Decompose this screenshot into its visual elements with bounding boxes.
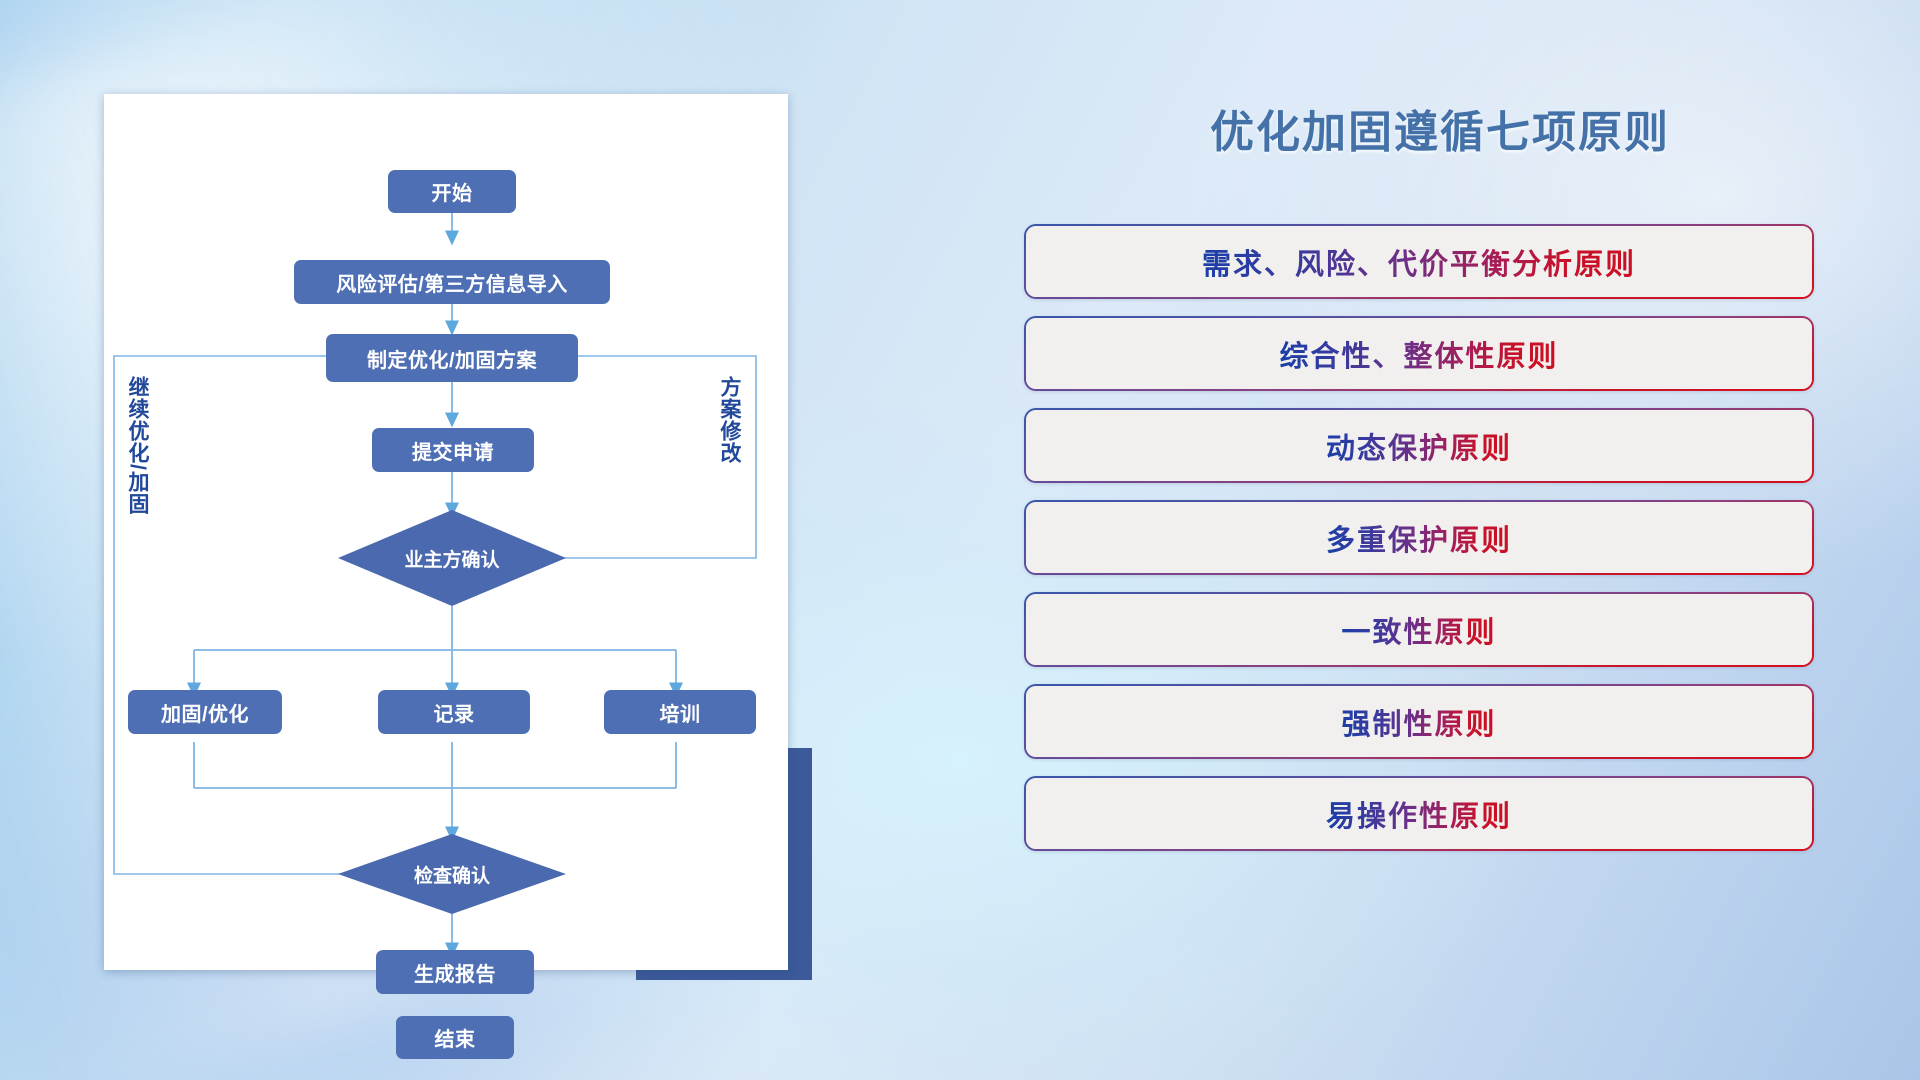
flow-node-plan[interactable]: 制定优化/加固方案: [326, 334, 578, 382]
edge-label-plan-revision: 方案修改: [718, 376, 740, 464]
principle-inner: 一致性原则: [1026, 594, 1812, 665]
principle-label: 强制性原则: [1341, 701, 1496, 743]
principle-item-3[interactable]: 动态保护原则: [1024, 408, 1814, 483]
flow-node-label: 生成报告: [414, 958, 496, 987]
flow-node-reinforce[interactable]: 加固/优化: [128, 690, 282, 734]
principle-label: 动态保护原则: [1326, 425, 1512, 467]
principle-inner: 多重保护原则: [1026, 502, 1812, 573]
flow-node-training[interactable]: 培训: [604, 690, 756, 734]
principle-label: 综合性、整体性原则: [1279, 333, 1558, 375]
flow-node-label: 加固/优化: [161, 698, 249, 727]
flow-node-generate-report[interactable]: 生成报告: [376, 950, 534, 994]
principle-item-5[interactable]: 一致性原则: [1024, 592, 1814, 667]
principle-label: 需求、风险、代价平衡分析原则: [1202, 241, 1636, 283]
flow-node-owner-confirm[interactable]: 业主方确认: [338, 510, 566, 606]
principle-item-6[interactable]: 强制性原则: [1024, 684, 1814, 759]
flow-node-inspect-confirm[interactable]: 检查确认: [338, 834, 566, 914]
principle-item-4[interactable]: 多重保护原则: [1024, 500, 1814, 575]
principle-inner: 需求、风险、代价平衡分析原则: [1026, 226, 1812, 297]
principles-list: 需求、风险、代价平衡分析原则 综合性、整体性原则 动态保护原则 多重保护原则: [1024, 224, 1814, 868]
flow-node-label: 结束: [435, 1023, 476, 1052]
flowchart-card: 开始 风险评估/第三方信息导入 制定优化/加固方案 提交申请 业主方确认 加固/…: [104, 94, 788, 970]
flow-node-label: 制定优化/加固方案: [367, 344, 537, 373]
principle-label: 一致性原则: [1341, 609, 1496, 651]
flow-node-end[interactable]: 结束: [396, 1016, 514, 1059]
principle-inner: 强制性原则: [1026, 686, 1812, 757]
flow-node-risk-assessment[interactable]: 风险评估/第三方信息导入: [294, 260, 610, 304]
principle-item-7[interactable]: 易操作性原则: [1024, 776, 1814, 851]
principles-panel: 优化加固遵循七项原则 需求、风险、代价平衡分析原则 综合性、整体性原则 动态保护…: [1020, 96, 1860, 996]
principle-label: 多重保护原则: [1326, 517, 1512, 559]
flow-node-label: 检查确认: [414, 861, 490, 888]
principle-label: 易操作性原则: [1326, 793, 1512, 835]
principle-item-1[interactable]: 需求、风险、代价平衡分析原则: [1024, 224, 1814, 299]
flow-node-submit-application[interactable]: 提交申请: [372, 428, 534, 472]
flow-node-label: 培训: [660, 698, 701, 727]
flow-node-label: 风险评估/第三方信息导入: [336, 268, 568, 297]
principle-inner: 易操作性原则: [1026, 778, 1812, 849]
flow-node-record[interactable]: 记录: [378, 690, 530, 734]
flow-node-start[interactable]: 开始: [388, 170, 516, 213]
principle-inner: 动态保护原则: [1026, 410, 1812, 481]
panel-title: 优化加固遵循七项原则: [1020, 96, 1860, 160]
principle-inner: 综合性、整体性原则: [1026, 318, 1812, 389]
slide-canvas: 开始 风险评估/第三方信息导入 制定优化/加固方案 提交申请 业主方确认 加固/…: [0, 0, 1920, 1080]
flow-node-label: 提交申请: [412, 436, 494, 465]
flow-node-label: 记录: [434, 698, 475, 727]
principle-item-2[interactable]: 综合性、整体性原则: [1024, 316, 1814, 391]
flow-node-label: 开始: [432, 177, 473, 206]
edge-label-continue-optimize: 继续优化/加固: [126, 376, 148, 515]
flow-node-label: 业主方确认: [404, 545, 499, 572]
